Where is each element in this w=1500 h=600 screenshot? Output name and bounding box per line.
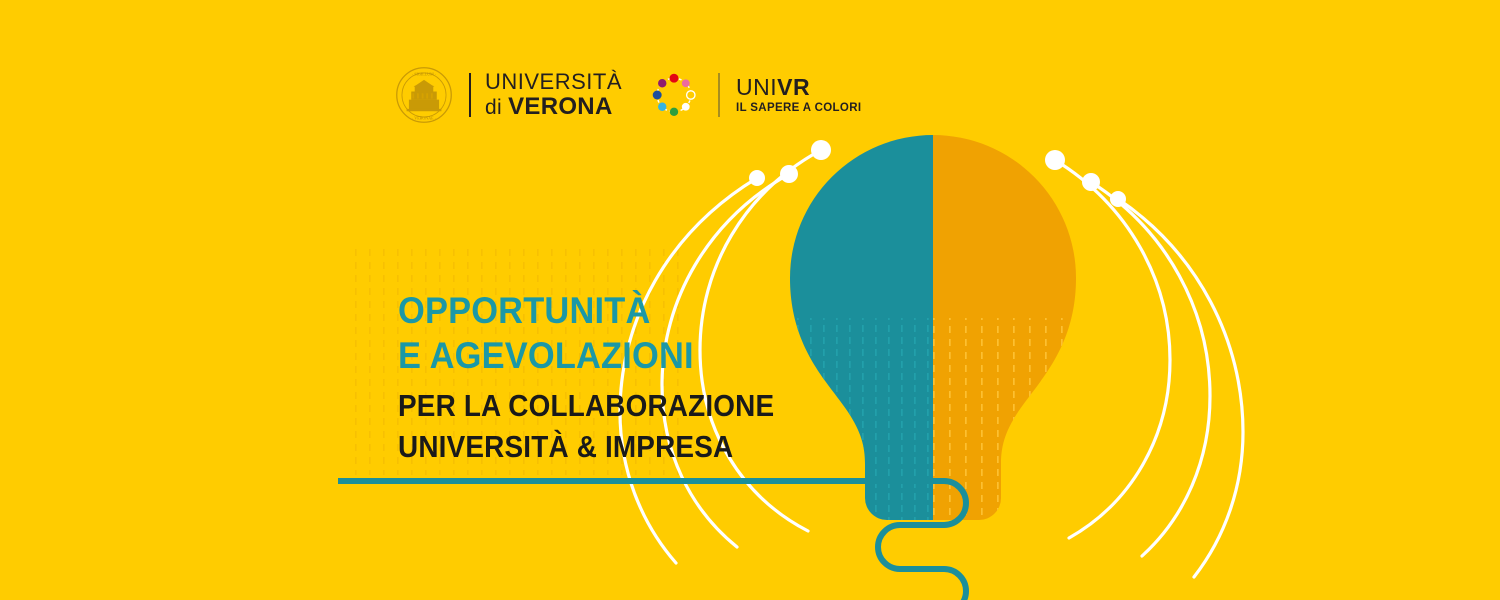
dot-purple: [658, 79, 666, 87]
orbit-dot: [1082, 173, 1100, 191]
headline-line-3: PER LA COLLABORAZIONE: [398, 386, 785, 426]
orbit-dot: [1045, 150, 1065, 170]
univr-wordmark: UNIVR IL SAPERE A COLORI: [736, 76, 861, 115]
headline-line-1: OPPORTUNITÀ: [398, 288, 798, 333]
headline-line-4: UNIVERSITÀ & IMPRESA: [398, 427, 785, 467]
univr-vr: VR: [777, 74, 810, 100]
logo-bar: · SIGILLUM · · VERONAE · UNIVERSITÀ di V…: [395, 62, 861, 128]
orbit-dot: [780, 165, 798, 183]
svg-text:· VERONAE ·: · VERONAE ·: [412, 115, 436, 120]
university-seal-icon: · SIGILLUM · · VERONAE ·: [395, 66, 453, 124]
dot-green: [670, 108, 678, 116]
wordmark-line-universita: UNIVERSITÀ: [485, 71, 622, 93]
headline-block: OPPORTUNITÀ E AGEVOLAZIONI PER LA COLLAB…: [398, 288, 828, 467]
verona-wordmark: UNIVERSITÀ di VERONA: [485, 71, 622, 119]
svg-text:· SIGILLUM ·: · SIGILLUM ·: [412, 71, 436, 76]
orbit-dot: [1110, 191, 1126, 207]
univr-uni: UNI: [736, 74, 777, 100]
colored-dot-ring-icon: [646, 67, 702, 123]
univr-tagline: IL SAPERE A COLORI: [736, 103, 861, 115]
dot-white: [682, 103, 690, 111]
dot-pink: [682, 79, 690, 87]
dot-red: [670, 74, 679, 83]
orbit-dot: [749, 170, 765, 186]
univr-divider: [718, 73, 720, 117]
verona-logo-group[interactable]: · SIGILLUM · · VERONAE · UNIVERSITÀ di V…: [395, 66, 622, 124]
banner-root: · SIGILLUM · · VERONAE · UNIVERSITÀ di V…: [0, 0, 1500, 600]
wordmark-line-verona: di VERONA: [485, 95, 622, 119]
wordmark-verona: VERONA: [508, 93, 612, 120]
dot-blue: [653, 91, 662, 100]
wordmark-di: di: [485, 96, 508, 119]
headline-line-2: E AGEVOLAZIONI: [398, 333, 798, 378]
orbit-dot: [811, 140, 831, 160]
univr-title: UNIVR: [736, 76, 861, 99]
dot-cyan: [658, 103, 666, 111]
logo-divider: [469, 73, 471, 117]
dot-outline: [687, 91, 695, 99]
univr-logo-group[interactable]: UNIVR IL SAPERE A COLORI: [622, 67, 861, 123]
